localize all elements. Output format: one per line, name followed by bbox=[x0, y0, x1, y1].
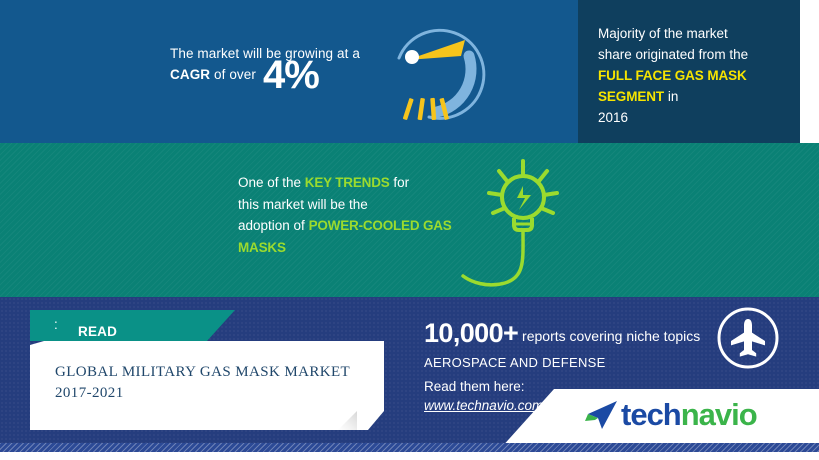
logo-text-navio: navio bbox=[681, 397, 757, 432]
technavio-wordmark: technavio bbox=[621, 398, 757, 432]
lightbulb-idea-icon bbox=[455, 150, 645, 300]
share-line1: Majority of the market bbox=[598, 26, 728, 41]
trend-highlight-product: POWER-COOLED GAS bbox=[309, 218, 452, 233]
share-line3-rest: in bbox=[664, 89, 678, 104]
logo-text-tech: tech bbox=[621, 397, 681, 432]
market-share-statement: Majority of the market share originated … bbox=[598, 23, 798, 128]
reports-count-text: reports covering niche topics bbox=[518, 328, 700, 344]
paper-plane-icon bbox=[583, 399, 619, 431]
bottom-white-margin bbox=[0, 452, 819, 460]
report-title-line2: 2017-2021 bbox=[55, 385, 124, 401]
cagr-label: CAGR bbox=[170, 67, 210, 82]
key-trends-statement: One of the KEY TRENDS for this market wi… bbox=[238, 172, 468, 258]
read-the-report-banner: READ THE REPORT: bbox=[30, 310, 235, 341]
bottom-stripe-band bbox=[0, 443, 819, 452]
infographic-canvas: The market will be growing at a CAGR of … bbox=[0, 0, 819, 460]
trend-prefix: One of the bbox=[238, 175, 305, 190]
reports-count-line: 10,000+ reports covering niche topics bbox=[424, 318, 744, 349]
reports-count: 10,000+ bbox=[424, 318, 518, 348]
speedometer-icon bbox=[385, 12, 495, 132]
trend-highlight-product-2: MASKS bbox=[238, 240, 286, 255]
trend-mid: for bbox=[390, 175, 410, 190]
report-title: GLOBAL MILITARY GAS MASK MARKET 2017-202… bbox=[55, 362, 355, 404]
cagr-line2-rest: of over bbox=[210, 67, 256, 82]
trend-line2: this market will be the bbox=[238, 197, 368, 212]
trend-line3-prefix: adoption of bbox=[238, 218, 309, 233]
trend-highlight-key-trends: KEY TRENDS bbox=[305, 175, 390, 190]
report-title-line1: GLOBAL MILITARY GAS MASK MARKET bbox=[55, 364, 350, 380]
website-link[interactable]: www.technavio.com bbox=[424, 398, 543, 413]
read-report-colon: : bbox=[54, 317, 58, 332]
share-year: 2016 bbox=[598, 110, 628, 125]
read-them-here-label: Read them here: bbox=[424, 379, 525, 394]
share-line2: share originated from the bbox=[598, 47, 748, 62]
cagr-value: 4% bbox=[263, 55, 319, 95]
sector-label: AEROSPACE AND DEFENSE bbox=[424, 355, 606, 370]
airplane-circle-icon bbox=[716, 306, 780, 370]
